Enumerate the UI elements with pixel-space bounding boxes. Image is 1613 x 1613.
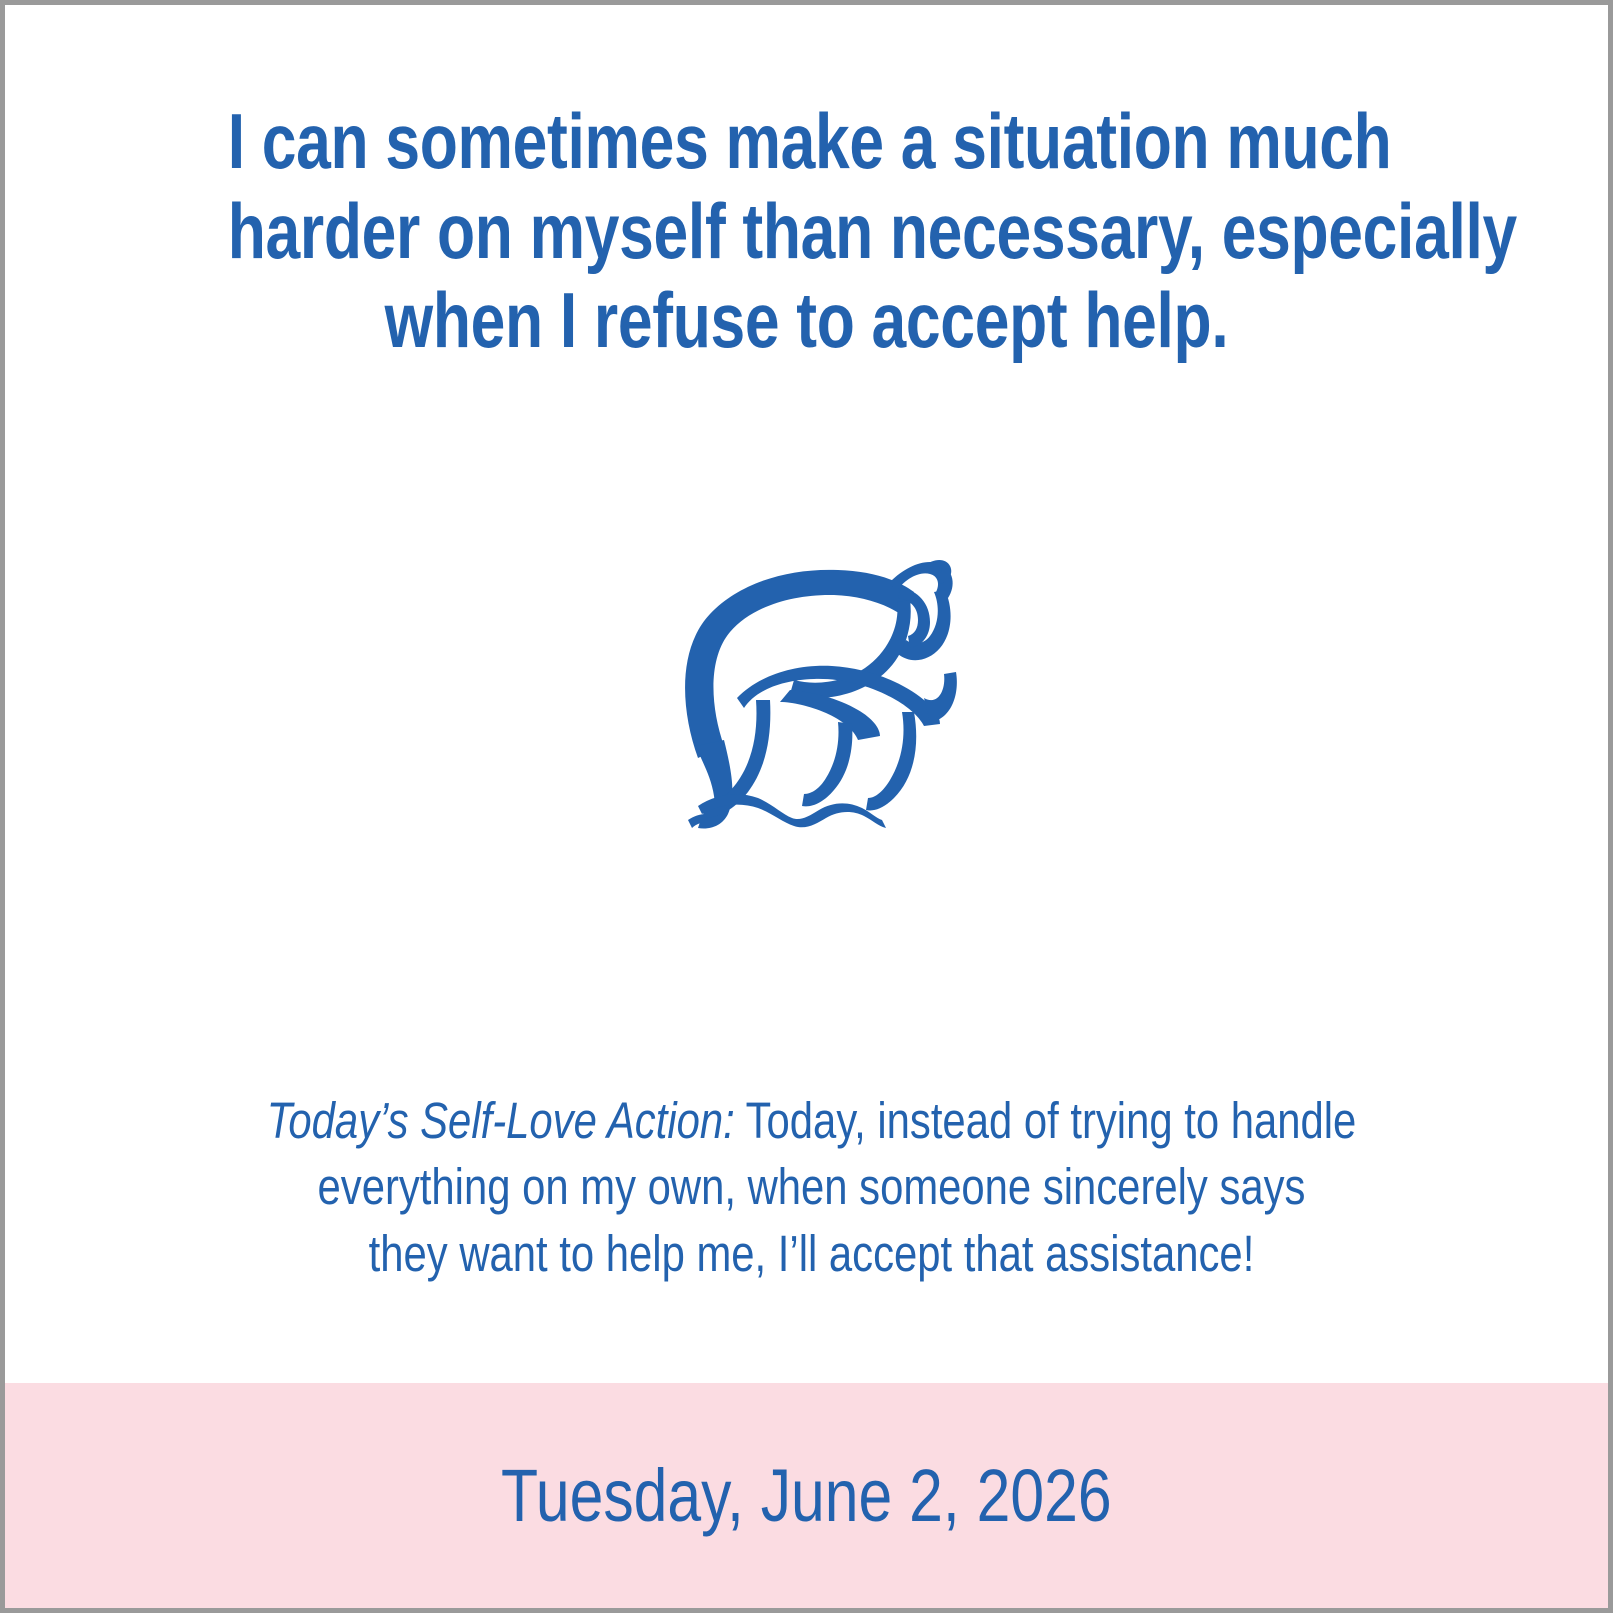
- date-footer-band: Tuesday, June 2, 2026: [5, 1383, 1608, 1608]
- affirmation-headline: I can sometimes make a situation much ha…: [228, 97, 1386, 366]
- action-line-1: Today’s Self-Love Action: Today, instead…: [257, 1088, 1366, 1154]
- affirmation-line-2: harder on myself than necessary, especia…: [228, 187, 1386, 277]
- action-lead-in: Today’s Self-Love Action:: [267, 1092, 735, 1149]
- affirmation-line-3: when I refuse to accept help.: [228, 276, 1386, 366]
- self-love-action-text: Today’s Self-Love Action: Today, instead…: [257, 1088, 1366, 1287]
- action-line-3: they want to help me, I’ll accept that a…: [257, 1221, 1366, 1287]
- action-line-1-rest: Today, instead of trying to handle: [735, 1092, 1357, 1149]
- action-line-2: everything on my own, when someone since…: [257, 1154, 1366, 1220]
- daily-affirmation-card: I can sometimes make a situation much ha…: [0, 0, 1613, 1613]
- conch-shell-icon: [662, 540, 962, 830]
- footer-date-label: Tuesday, June 2, 2026: [501, 1453, 1112, 1538]
- illustration-container: [5, 525, 1613, 845]
- affirmation-line-1: I can sometimes make a situation much: [228, 97, 1386, 187]
